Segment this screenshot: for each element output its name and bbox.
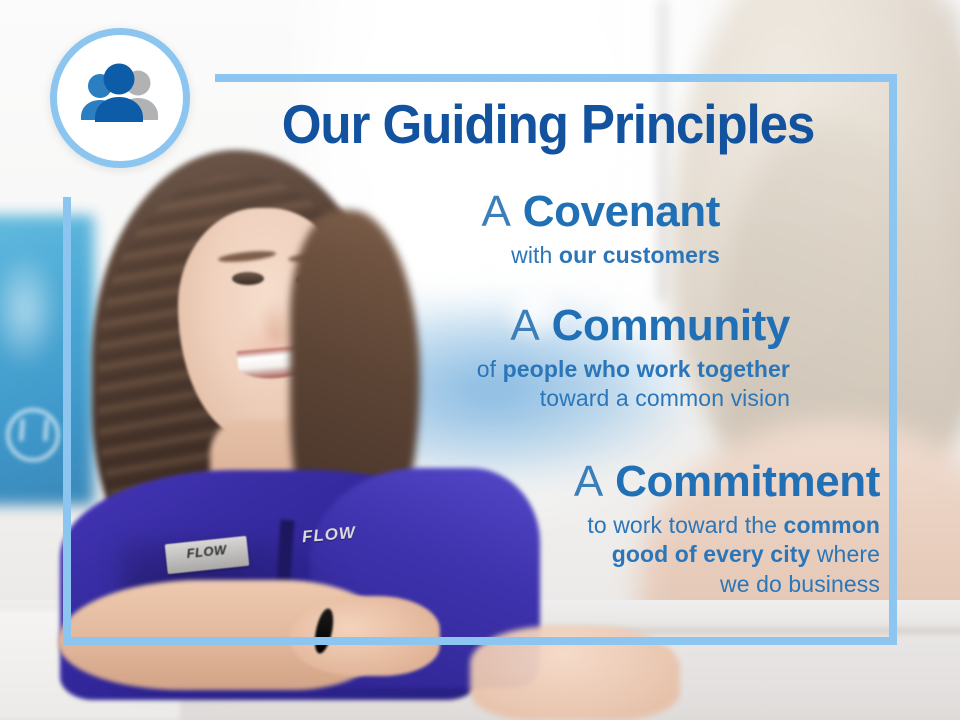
- emphasis-text: good of every city: [612, 541, 811, 567]
- principle-description: of people who work togethertoward a comm…: [340, 355, 790, 415]
- regular-text: where: [810, 541, 880, 567]
- principle-heading: A Commitment: [400, 458, 880, 506]
- principle-community: A Community of people who work togethert…: [340, 302, 790, 414]
- emphasis-text: our customers: [559, 242, 720, 268]
- principle-lead-article: A: [510, 301, 539, 350]
- emphasis-text: common: [784, 512, 880, 538]
- principle-description: to work toward the commongood of every c…: [400, 511, 880, 601]
- regular-text: we do business: [720, 571, 880, 597]
- regular-text: of: [477, 356, 503, 382]
- principle-heading: A Covenant: [300, 188, 720, 236]
- poster-canvas: FLOW FLOW Our Guid: [0, 0, 960, 720]
- principle-commitment: A Commitment to work toward the commongo…: [400, 458, 880, 600]
- regular-text: to work toward the: [587, 512, 783, 538]
- principle-heading: A Community: [340, 302, 790, 350]
- principle-lead-article: A: [574, 457, 603, 506]
- principle-keyword: Covenant: [523, 187, 720, 236]
- emphasis-text: people who work together: [503, 356, 790, 382]
- regular-text: toward a common vision: [540, 385, 790, 411]
- page-title: Our Guiding Principles: [241, 96, 855, 154]
- text-overlay: Our Guiding Principles A Covenant with o…: [0, 0, 960, 720]
- regular-text: with: [511, 242, 559, 268]
- principle-description: with our customers: [300, 241, 720, 271]
- principle-keyword: Commitment: [615, 457, 880, 506]
- principle-lead-article: A: [482, 187, 511, 236]
- principle-keyword: Community: [552, 301, 790, 350]
- principle-covenant: A Covenant with our customers: [300, 188, 720, 270]
